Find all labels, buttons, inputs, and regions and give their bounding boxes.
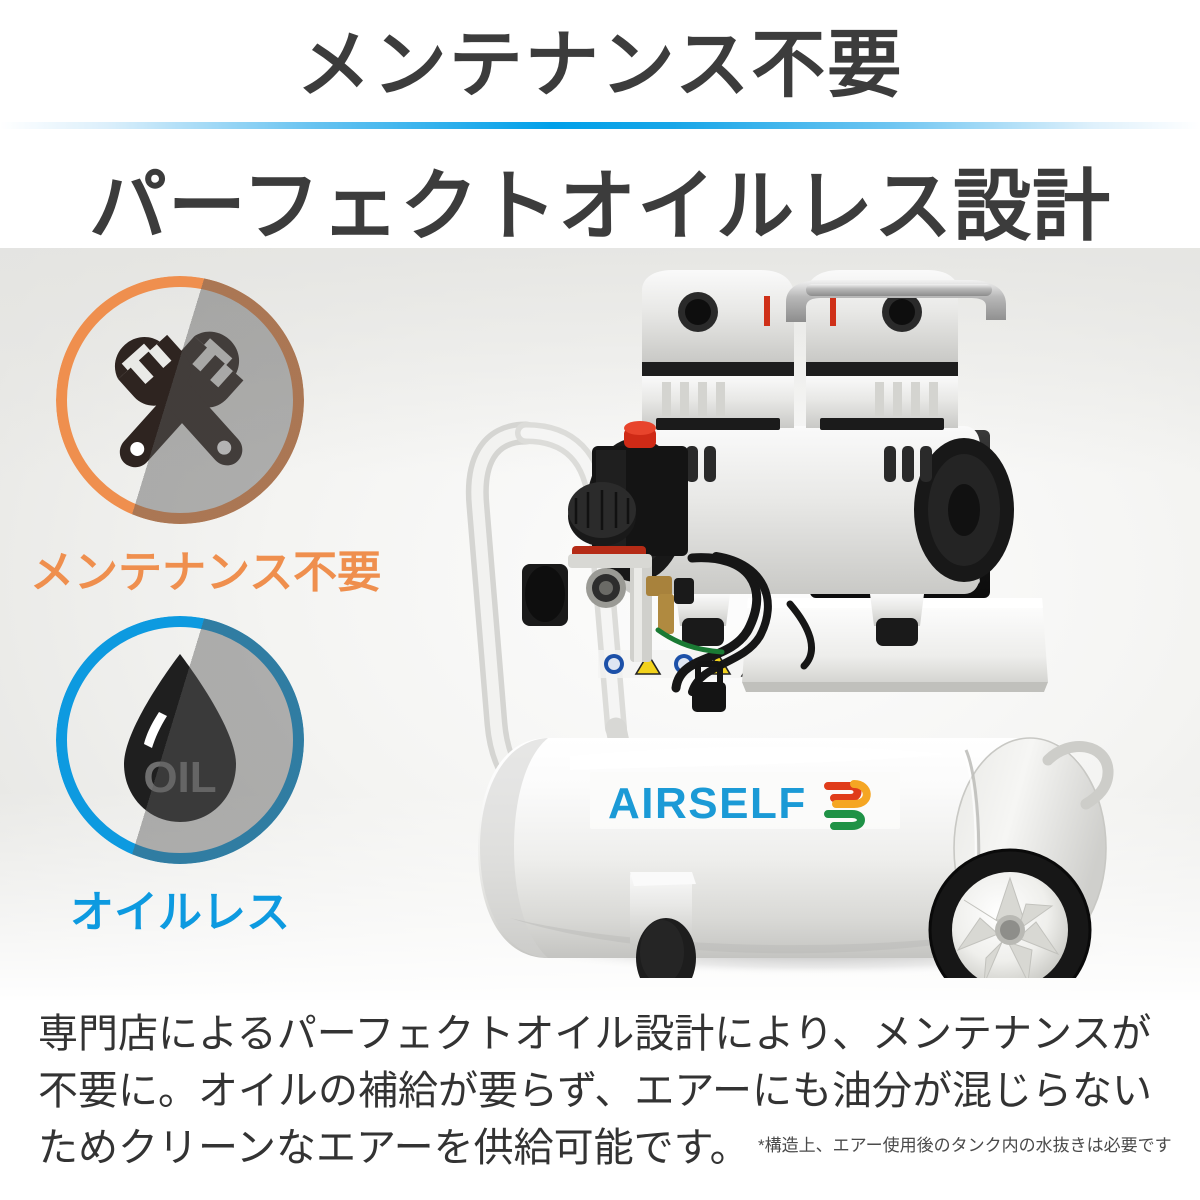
oil-drop-icon: OIL <box>56 616 304 864</box>
page-title-secondary: パーフェクトオイルレス設計 <box>0 150 1200 250</box>
oil-drop-label: OIL <box>143 753 216 802</box>
badge-caption-maintenance: メンテナンス不要 <box>30 536 330 600</box>
disclaimer-note: *構造上、エアー使用後のタンク内の水抜きは必要です <box>758 1134 1172 1158</box>
feature-badge-maintenance: メンテナンス不要 <box>30 276 330 600</box>
regulator-knob <box>568 482 636 546</box>
description-line-2: 不要に。オイルの補給が要らず、エアーにも油分が混じらない <box>38 1063 1168 1120</box>
description-line-1: 専門店によるパーフェクトオイル設計により、メンテナンスが <box>38 1006 1168 1063</box>
badge-ring-oilless: OIL <box>56 616 304 864</box>
description-text: 専門店によるパーフェクトオイル設計により、メンテナンスが 不要に。オイルの補給が… <box>38 1006 1168 1176</box>
front-caster-wheel <box>630 872 696 978</box>
product-feature-banner: メンテナンス不要 パーフェクトオイルレス設計 <box>0 0 1200 1200</box>
page-title-primary: メンテナンス不要 <box>0 8 1200 108</box>
badge-caption-oilless: オイルレス <box>30 876 330 940</box>
hero-image-area: メンテナンス不要 OIL オイルレス <box>0 248 1200 1000</box>
brand-logo-decal: AIRSELF <box>590 772 900 829</box>
header-divider <box>0 122 1200 129</box>
crossed-wrenches-icon <box>56 276 304 524</box>
badge-ring-maintenance <box>56 276 304 524</box>
air-compressor-photo: AIRSELF <box>430 258 1170 978</box>
feature-badge-oilless: OIL オイルレス <box>30 616 330 940</box>
brand-logo-text: AIRSELF <box>608 779 807 828</box>
